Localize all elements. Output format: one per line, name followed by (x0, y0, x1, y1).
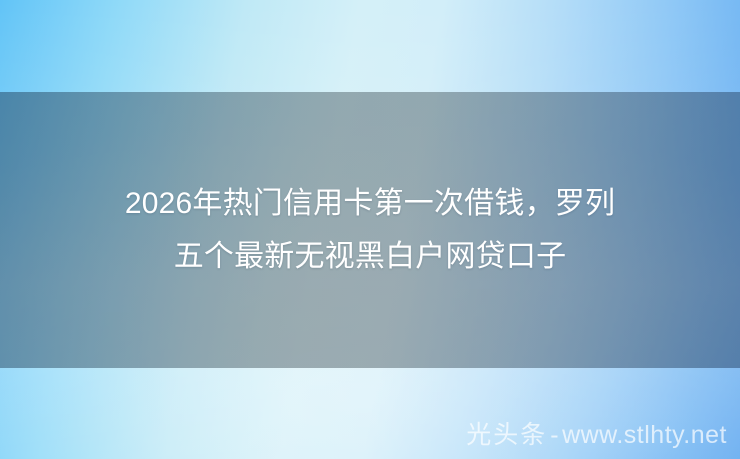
banner-image: 2026年热门信用卡第一次借钱，罗列 五个最新无视黑白户网贷口子 光头条-www… (0, 0, 740, 459)
watermark-url: www.stlhty.net (562, 421, 727, 449)
watermark-separator: - (547, 421, 562, 449)
watermark-site-name: 光头条 (466, 421, 547, 449)
watermark: 光头条-www.stlhty.net (466, 423, 727, 448)
headline-line-1: 2026年热门信用卡第一次借钱，罗列 (25, 177, 715, 230)
headline-line-2: 五个最新无视黑白户网贷口子 (25, 230, 715, 283)
headline-text: 2026年热门信用卡第一次借钱，罗列 五个最新无视黑白户网贷口子 (25, 177, 715, 283)
headline-band: 2026年热门信用卡第一次借钱，罗列 五个最新无视黑白户网贷口子 (0, 92, 740, 368)
